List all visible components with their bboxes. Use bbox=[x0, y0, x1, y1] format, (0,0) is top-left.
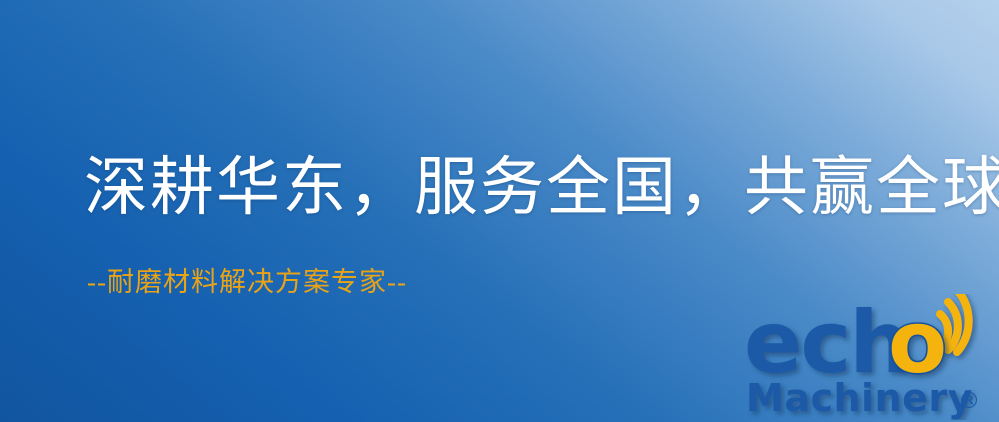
promo-banner: 深耕华东，服务全国，共赢全球 --耐磨材料解决方案专家-- ech bbox=[0, 0, 999, 422]
registered-trademark-icon: ® bbox=[958, 389, 980, 414]
banner-subtitle: --耐磨材料解决方案专家-- bbox=[87, 265, 407, 299]
logo-artwork: ech o Machinery ® bbox=[744, 294, 994, 420]
logo-tagline: Machinery bbox=[746, 376, 973, 420]
logo-mark: ech o Machinery ® bbox=[744, 294, 994, 420]
echo-machinery-logo: ech o Machinery ® bbox=[744, 294, 994, 420]
banner-headline: 深耕华东，服务全国，共赢全球 bbox=[84, 150, 999, 226]
